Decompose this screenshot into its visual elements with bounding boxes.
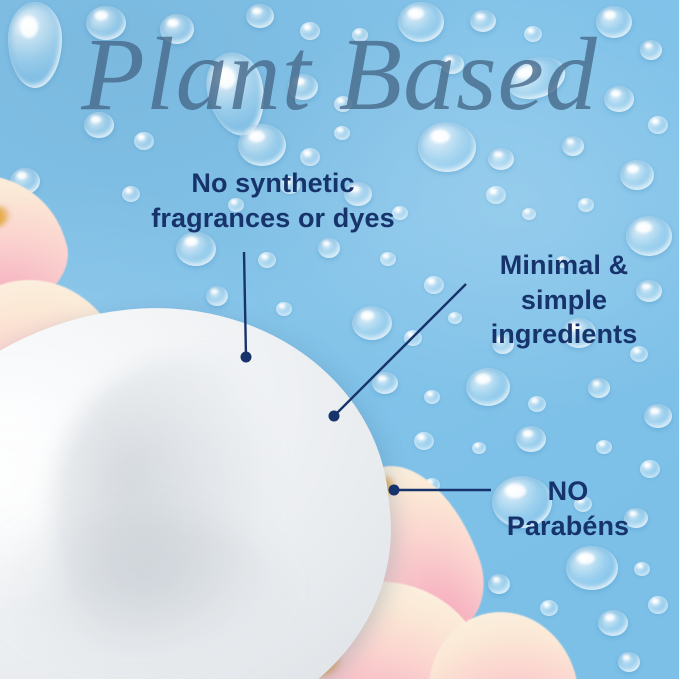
callout-minimal-and-simple-ingredients: Minimal & simple ingredients (452, 248, 676, 352)
callout-no-synthetic-fragrances-or-dyes: No synthetic fragrances or dyes (118, 166, 428, 235)
product-infographic: Plant Based No synthetic fragrances or d… (0, 0, 679, 679)
callout-no-parabens: NO Parabéns (468, 474, 668, 543)
